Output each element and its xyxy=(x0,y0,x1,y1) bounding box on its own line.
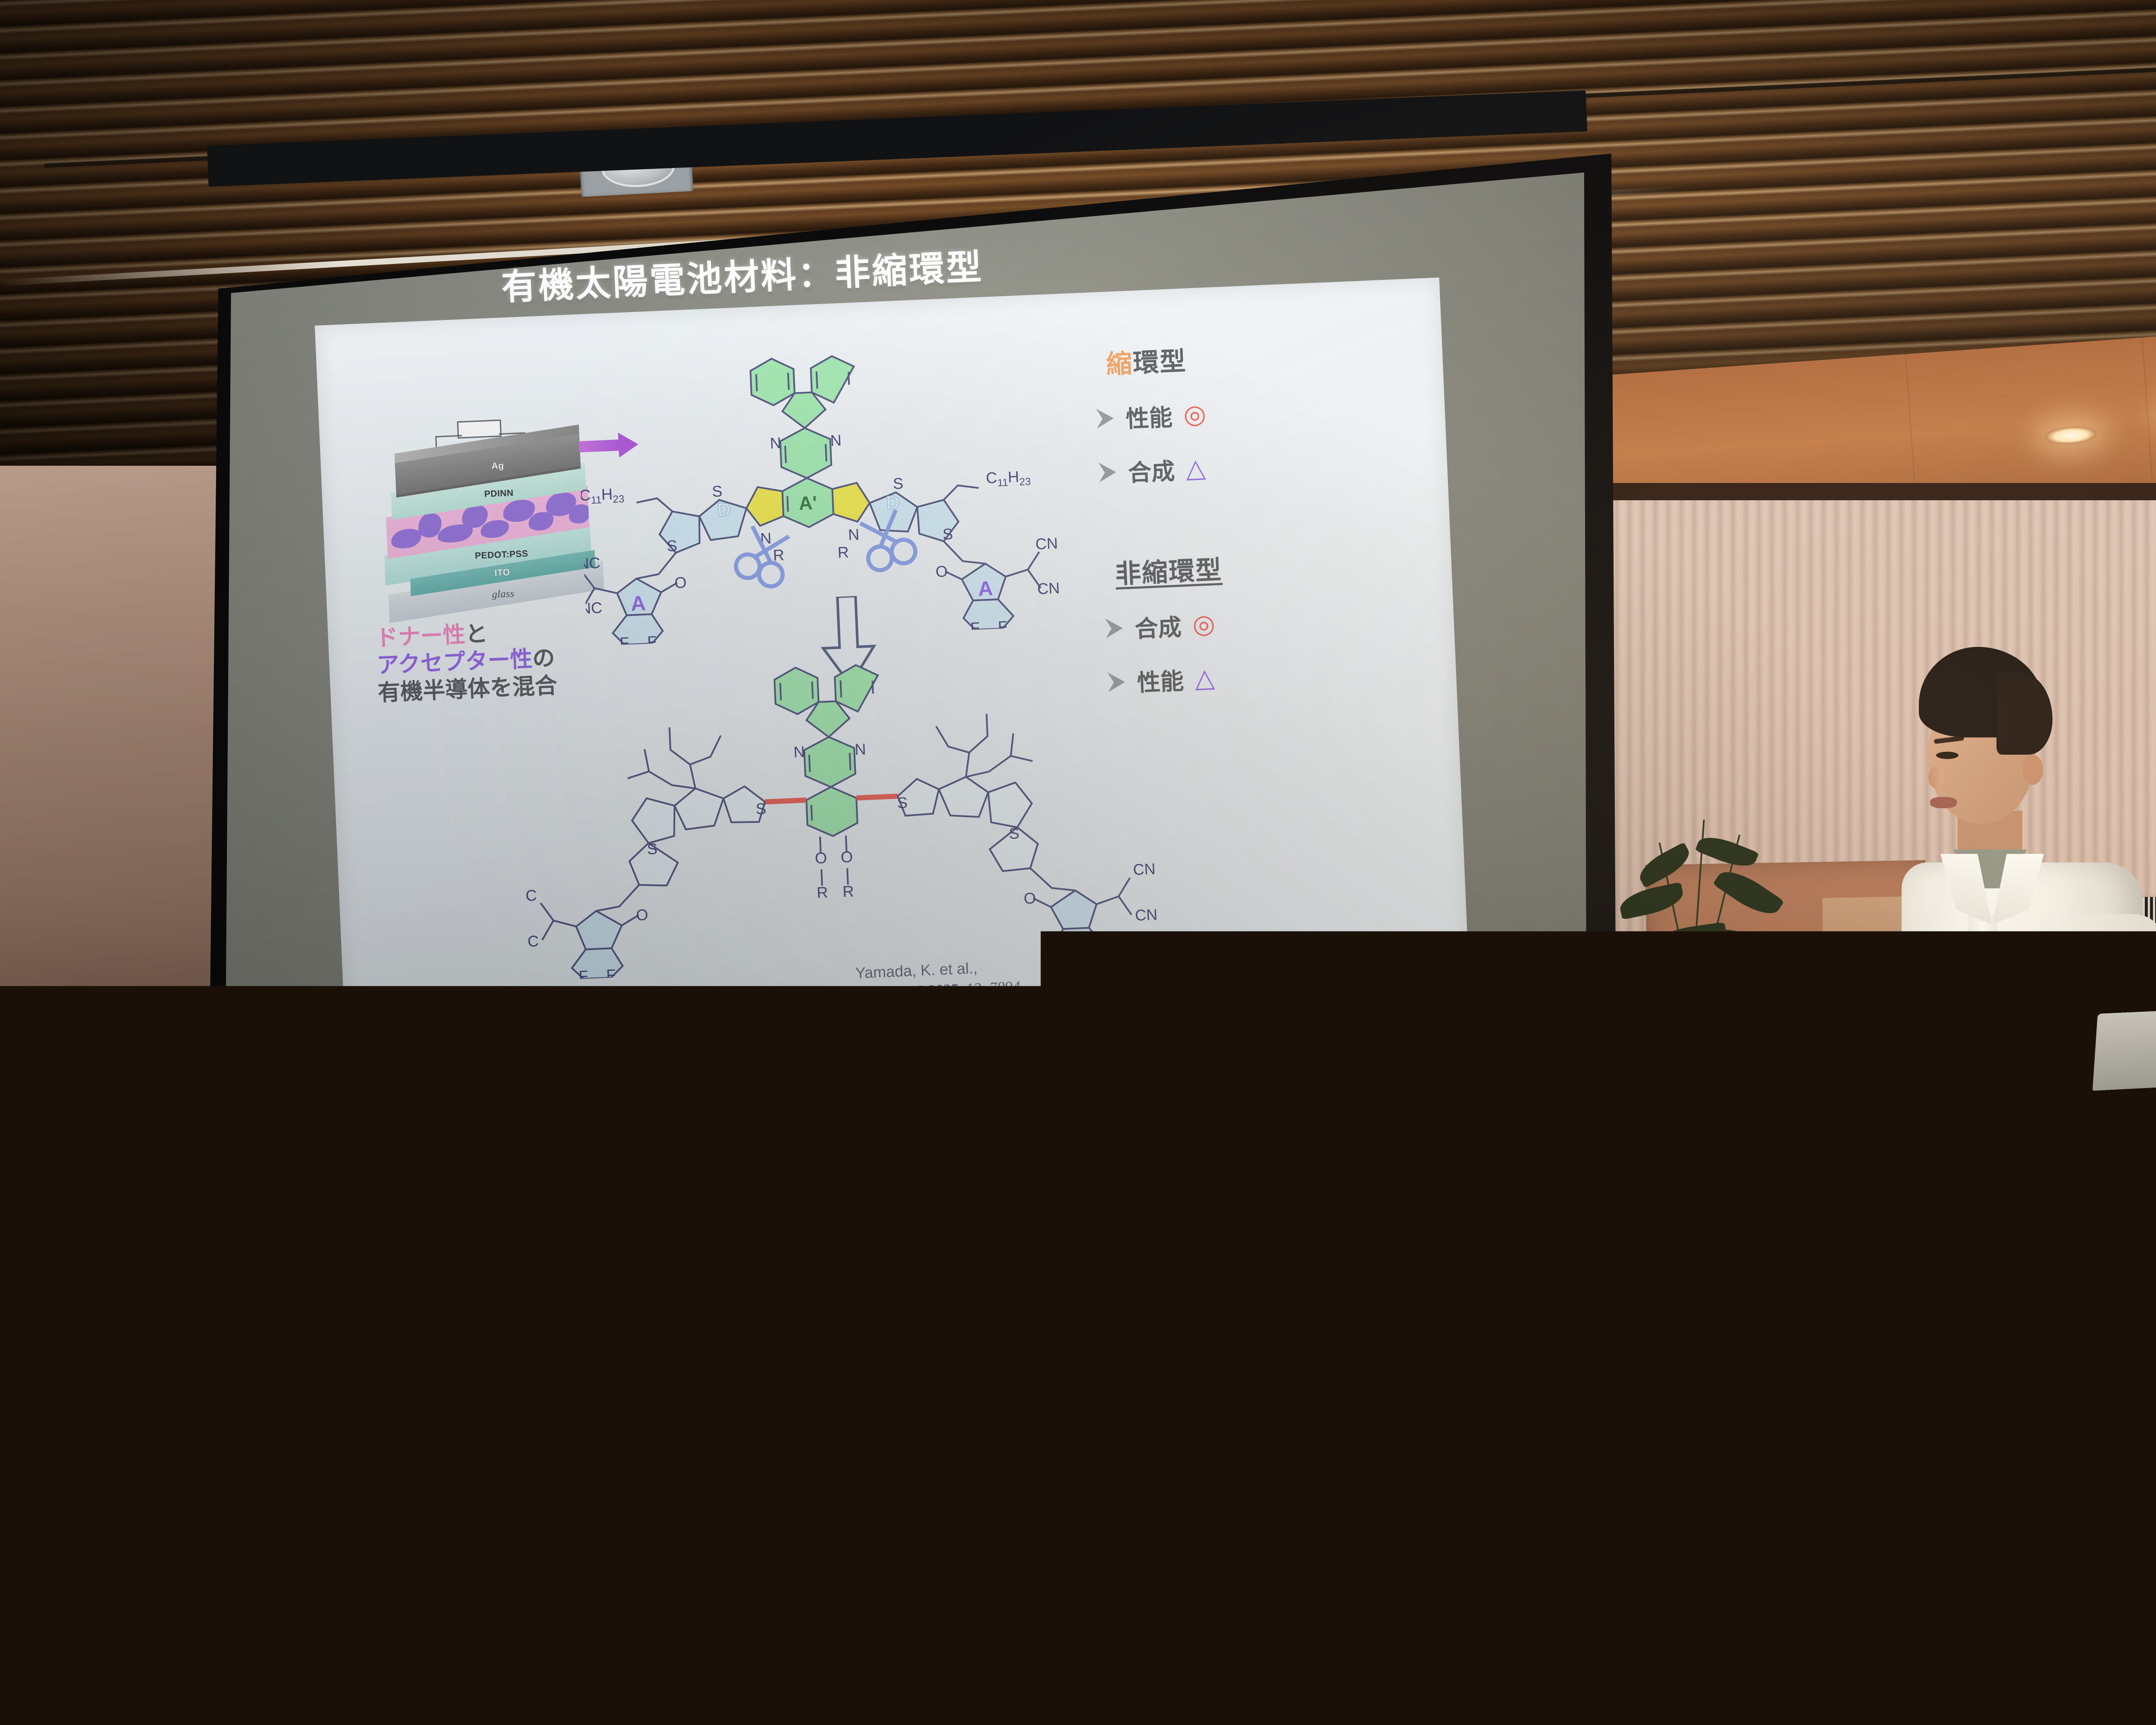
atom-label-S: S xyxy=(647,840,658,858)
alkyl-label-left: C11H23 xyxy=(579,485,625,507)
r-group-label: R xyxy=(816,883,828,901)
presenter-collar xyxy=(1940,854,2048,927)
belt-buckle xyxy=(1992,1368,2022,1387)
acceptor-label-left: A xyxy=(630,592,646,615)
alkyl-label-right: C11H23 xyxy=(986,467,1031,489)
circuit-box-icon xyxy=(457,420,502,439)
nonfused-row-synthesis: 合成 ◎ xyxy=(1104,597,1433,645)
donor-label-left: D xyxy=(717,499,731,521)
audience-torso xyxy=(298,1272,729,1725)
atom-label-S: S xyxy=(897,793,908,812)
plant-pot xyxy=(1654,996,1718,1054)
fused-row-performance: 性能 ◎ xyxy=(1095,387,1424,435)
atom-label-F: F xyxy=(619,634,630,646)
atom-label-S: S xyxy=(942,525,953,543)
presenter-eye xyxy=(1936,752,1959,759)
atom-label-F: F xyxy=(606,966,616,982)
atom-label-S: S xyxy=(1009,824,1020,842)
acceptor-label-right: A xyxy=(978,577,993,600)
presenter-trousers xyxy=(1917,1386,2137,1725)
fused-heading-rest: 環型 xyxy=(1132,347,1187,378)
atom-label-F: F xyxy=(647,633,657,646)
chevron-right-icon xyxy=(1097,461,1117,483)
audience-member-center xyxy=(241,1069,871,1725)
group-label-CN: CN xyxy=(1133,860,1156,878)
group-label-CN: CN xyxy=(1037,579,1060,598)
molecule-fused-structure: N N S S S S O O NC NC CN CN F F F F C11H… xyxy=(574,306,1083,646)
presentation-room-scene: 有機太陽電池材料：非縮環型 xyxy=(0,0,2156,1725)
group-label-CN: CN xyxy=(1134,906,1158,924)
fused-heading-accent: 縮 xyxy=(1106,349,1134,379)
nonfused-label-synthesis: 合成 xyxy=(1134,608,1182,644)
atom-label-O: O xyxy=(674,574,687,592)
atom-label-S: S xyxy=(893,474,904,492)
atom-label-N: N xyxy=(793,743,805,761)
rating-double-circle-icon: ◎ xyxy=(1192,611,1216,637)
fused-heading: 縮環型 xyxy=(1105,330,1421,381)
citation-year: 2025 xyxy=(927,980,959,999)
group-label-NC: NC xyxy=(514,886,537,905)
presenter-belt xyxy=(1919,1363,2134,1391)
citation-pages: , 13, 7894. xyxy=(958,978,1025,998)
floral-arrangement xyxy=(1611,802,1792,1005)
riser-block-left xyxy=(888,1294,987,1393)
fused-row-synthesis: 合成 △ xyxy=(1097,441,1426,489)
slide-content-area: Ag PDINN PEDOT:PSS ITO glass ドナー性と アクセプタ… xyxy=(315,277,1473,1107)
presenter-sleeve xyxy=(2035,914,2156,1289)
r-group-label: R xyxy=(837,543,849,561)
atom-label-O: O xyxy=(1023,889,1036,907)
rating-triangle-icon: △ xyxy=(1185,455,1206,482)
nonfused-label-performance: 性能 xyxy=(1136,662,1184,698)
riser-block-center xyxy=(1091,1322,1315,1421)
caption-accent-donor: ドナー性 xyxy=(375,622,466,651)
atom-label-F: F xyxy=(578,967,589,981)
atom-label-N: N xyxy=(770,434,782,452)
atom-label-S: S xyxy=(711,482,723,500)
caption-accent-acceptor: アクセプター性 xyxy=(376,647,533,678)
atom-label-O: O xyxy=(636,906,649,924)
presenter-mouth xyxy=(1930,797,1957,808)
group-label-NC: NC xyxy=(516,932,539,950)
atom-label-N: N xyxy=(848,525,860,543)
r-group-label: R xyxy=(842,882,854,900)
atom-label-S: S xyxy=(755,800,767,818)
nonfused-heading: 非縮環型 xyxy=(1114,540,1430,591)
riser-block-right xyxy=(1565,1285,1690,1393)
fused-label-synthesis: 合成 xyxy=(1127,452,1175,488)
presenter-ear xyxy=(2022,755,2043,785)
nonfused-heading-text: 非縮環型 xyxy=(1115,555,1223,589)
atom-label-S: S xyxy=(667,537,678,555)
audience-ear xyxy=(586,1212,620,1264)
citation-journal: J. Mater. Chem. C xyxy=(810,982,928,1004)
chevron-right-icon xyxy=(1104,617,1124,639)
atom-label-O: O xyxy=(935,562,948,580)
rating-double-circle-icon: ◎ xyxy=(1183,401,1206,427)
atom-label-N: N xyxy=(830,431,842,449)
group-label-CN: CN xyxy=(1035,534,1058,553)
rating-triangle-icon: △ xyxy=(1194,665,1216,691)
seat-back-foreground xyxy=(0,1458,280,1725)
atom-label-N: N xyxy=(854,740,866,758)
chevron-right-icon xyxy=(1095,407,1115,429)
presenter xyxy=(1893,647,2156,1725)
nonfused-row-performance: 性能 △ xyxy=(1106,651,1435,699)
caption-tail-1: と xyxy=(465,621,488,647)
chevron-right-icon xyxy=(1106,671,1126,693)
downlight-icon xyxy=(2044,425,2097,446)
atom-label-O: O xyxy=(840,848,853,866)
presenter-shirt-pocket xyxy=(2022,1026,2106,1093)
atom-label-O: O xyxy=(815,849,827,867)
av-equipment-box xyxy=(1832,966,1885,1053)
donor-label-right: D xyxy=(886,492,900,513)
fused-label-performance: 性能 xyxy=(1125,398,1173,434)
presenter-nose xyxy=(1928,767,1943,788)
core-label-A-prime: A' xyxy=(799,492,818,514)
comparison-column: 縮環型 性能 ◎ 合成 △ 非縮環型 xyxy=(1075,330,1435,699)
